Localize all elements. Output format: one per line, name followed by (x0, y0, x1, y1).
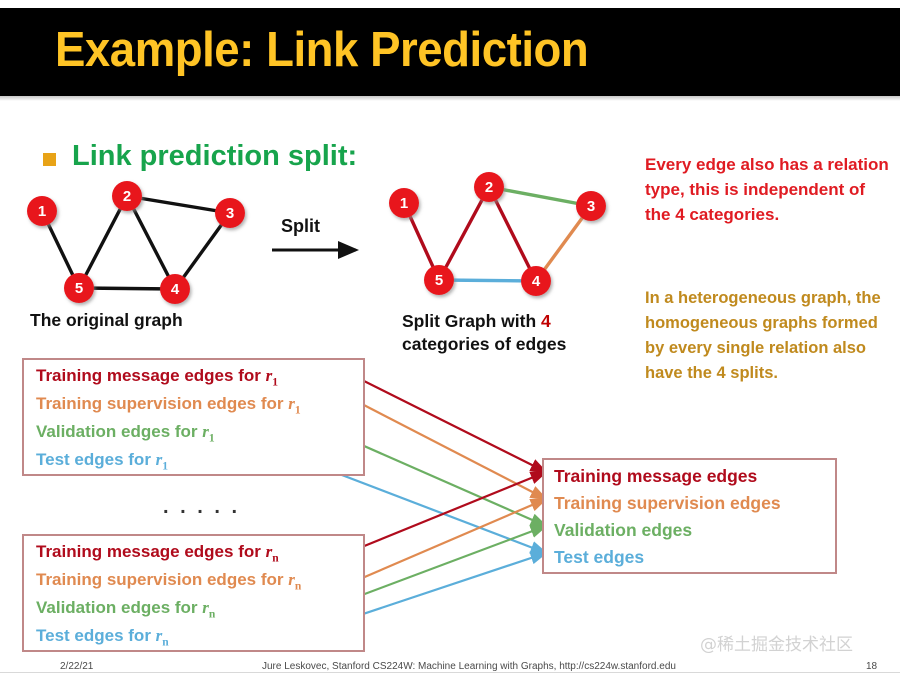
connector-rn-training-message (352, 472, 546, 551)
split-label-validation: Validation edges for r1 (36, 422, 215, 444)
graph-node-label-5: 5 (75, 280, 83, 297)
aggregated-split-box: Training message edgesTraining supervisi… (542, 458, 837, 574)
relation-split-box-rn: Training message edges for rnTraining su… (22, 534, 365, 652)
graph-node-label-2: 2 (123, 188, 131, 205)
relation-split-box-r1: Training message edges for r1Training su… (22, 358, 365, 476)
graph-edge-2-5 (79, 196, 127, 288)
graph-edge-2-3 (127, 196, 230, 213)
original-graph-caption: The original graph (30, 310, 183, 331)
relation-variable: r1 (156, 450, 168, 469)
page-title: Example: Link Prediction (55, 22, 588, 78)
watermark: @稀土掘金技术社区 (700, 630, 853, 655)
split-label-training-message: Training message edges (554, 466, 757, 487)
split-label-text: Validation edges for (36, 598, 202, 617)
split-label-validation: Validation edges (554, 520, 692, 541)
graph-node-label-5: 5 (435, 272, 443, 289)
split-graph-caption: Split Graph with 4 categories of edges (402, 310, 622, 356)
graph-node-label-4: 4 (532, 273, 541, 290)
split-label-training-supervision: Training supervision edges for r1 (36, 394, 301, 416)
graph-node-label-2: 2 (485, 179, 493, 196)
split-caption-part1: Split Graph with (402, 311, 541, 331)
title-band-shadow (0, 96, 900, 101)
split-label-test: Test edges for r1 (36, 450, 168, 472)
split-label-text: Test edges for (36, 450, 156, 469)
relation-variable: rn (202, 598, 215, 617)
relation-variable: rn (156, 626, 169, 645)
split-label-training-message: Training message edges for r1 (36, 366, 278, 388)
split-label-text: Training message edges for (36, 542, 266, 561)
note-heterogeneous-graph: In a heterogeneous graph, the homogeneou… (645, 286, 900, 386)
original-graph-diagram: 12345 (0, 165, 270, 315)
graph-node-label-3: 3 (226, 205, 234, 222)
footer-date: 2/22/21 (60, 661, 93, 672)
split-label-text: Validation edges for (36, 422, 202, 441)
relation-variable: rn (266, 542, 279, 561)
graph-node-label-4: 4 (171, 281, 180, 298)
note-relation-type: Every edge also has a relation type, thi… (645, 152, 895, 227)
footer-citation: Jure Leskovec, Stanford CS224W: Machine … (262, 661, 676, 672)
ellipsis-label: . . . . . (163, 496, 240, 519)
footer-page-number: 18 (866, 661, 877, 672)
split-label-text: Test edges for (36, 626, 156, 645)
split-label-text: Training message edges for (36, 366, 266, 385)
split-label-text: Training supervision edges for (36, 394, 288, 413)
split-label-training-supervision: Training supervision edges (554, 493, 781, 514)
split-caption-number: 4 (541, 311, 551, 331)
split-label-test: Test edges (554, 547, 644, 568)
connector-r1-training-supervision (360, 403, 546, 499)
graph-node-label-3: 3 (587, 198, 595, 215)
relation-variable: r1 (202, 422, 214, 441)
split-label-text: Validation edges (554, 520, 692, 540)
split-arrow-label: Split (281, 216, 320, 237)
split-label-training-message: Training message edges for rn (36, 542, 279, 564)
graph-node-label-1: 1 (38, 203, 46, 220)
split-caption-part2: categories of edges (402, 334, 566, 354)
split-arrow-icon (270, 240, 370, 264)
graph-edge-2-4 (489, 187, 536, 281)
split-label-text: Training message edges (554, 466, 757, 486)
slide-canvas: Example: Link Prediction Link prediction… (0, 0, 900, 683)
split-label-test: Test edges for rn (36, 626, 169, 648)
split-label-training-supervision: Training supervision edges for rn (36, 570, 301, 592)
graph-edge-2-5 (439, 187, 489, 280)
split-label-text: Training supervision edges for (36, 570, 288, 589)
connector-rn-training-supervision (360, 499, 546, 579)
connector-r1-training-message (352, 375, 546, 472)
split-label-validation: Validation edges for rn (36, 598, 215, 620)
split-graph-diagram: 12345 (370, 160, 630, 310)
graph-edge-2-4 (127, 196, 175, 289)
relation-variable: r1 (266, 366, 278, 385)
relation-variable: rn (288, 570, 301, 589)
split-label-text: Training supervision edges (554, 493, 781, 513)
relation-variable: r1 (288, 394, 300, 413)
graph-edge-2-3 (489, 187, 591, 206)
footer-divider (0, 672, 900, 673)
split-label-text: Test edges (554, 547, 644, 567)
graph-node-label-1: 1 (400, 195, 408, 212)
